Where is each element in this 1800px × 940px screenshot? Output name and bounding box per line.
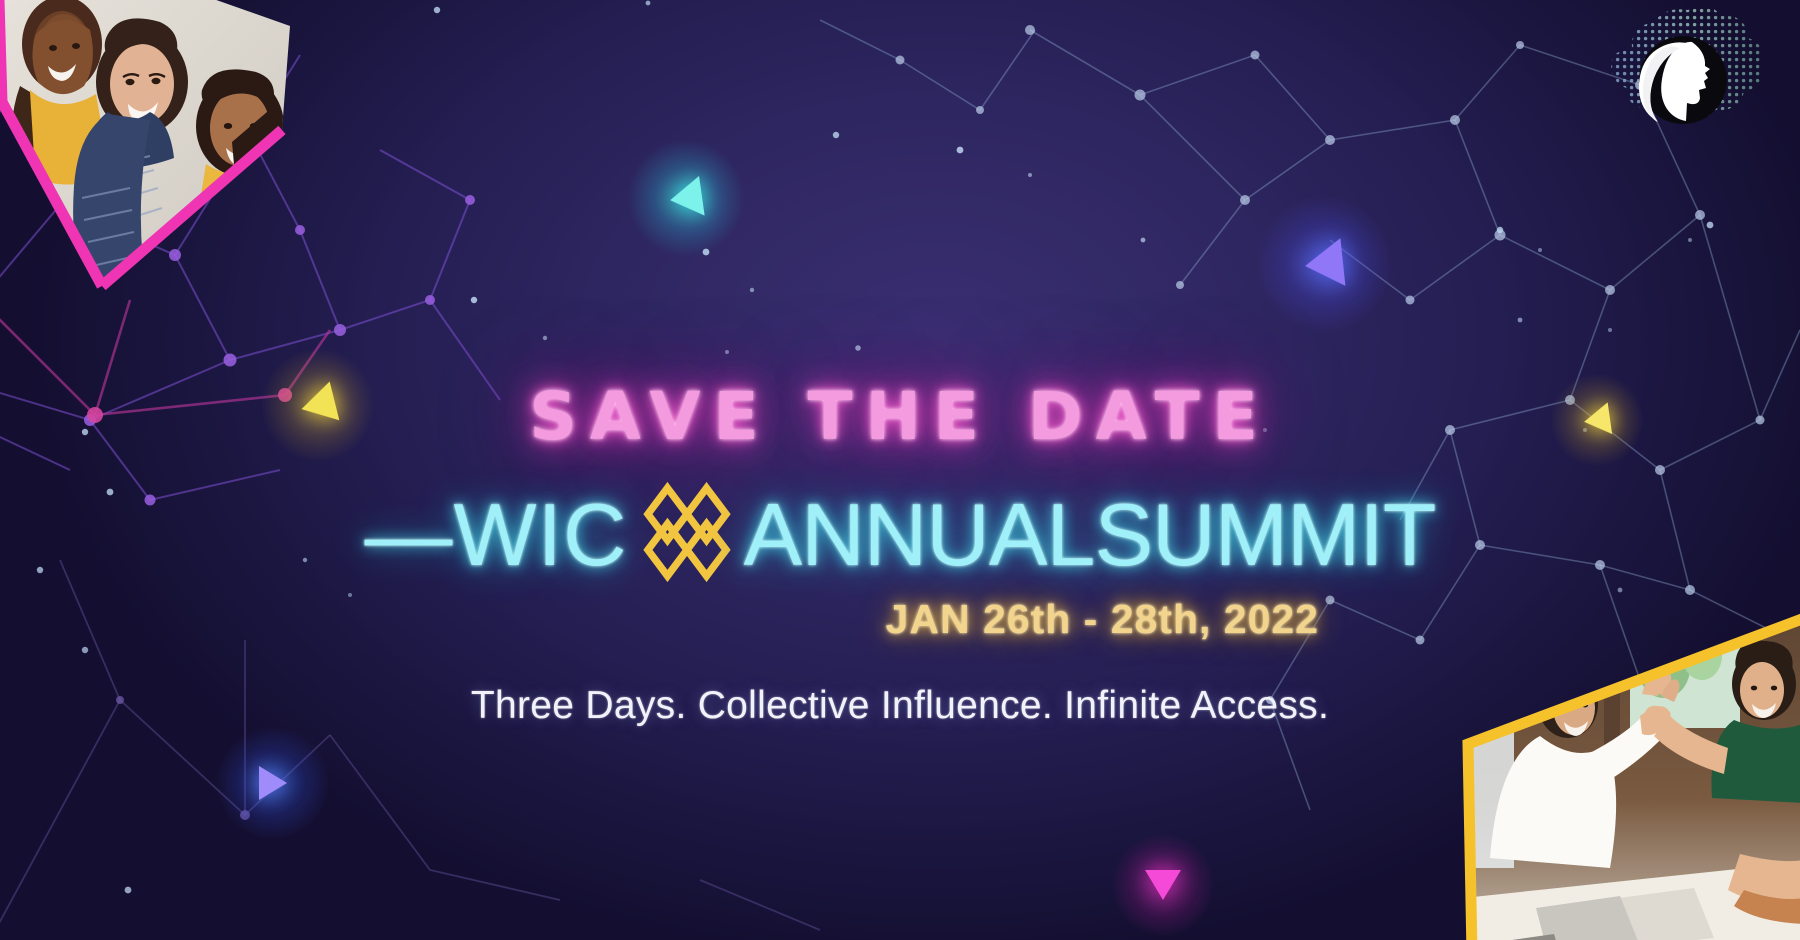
wic-woman-profile-logo[interactable] xyxy=(1580,8,1780,158)
triangle-magenta xyxy=(1108,830,1218,940)
triangle-yellow-right xyxy=(1547,370,1647,470)
three-women-smiling-photo xyxy=(0,0,330,316)
triangle-blue-lower xyxy=(213,723,333,843)
women-high-five-photo xyxy=(1444,608,1800,940)
triangle-teal xyxy=(626,138,746,258)
summit-title-suffix: ANNUALSUMMIT xyxy=(744,491,1436,579)
event-date: JAN 26th - 28th, 2022 xyxy=(886,596,1319,643)
wic-double-diamond-logo xyxy=(638,475,736,594)
triangle-yellow-left xyxy=(258,345,378,465)
summit-title-prefix: —WIC xyxy=(364,491,627,579)
banner-canvas: SAVE THE DATE —WIC ANNUALSUMMIT JAN 26th… xyxy=(0,0,1800,940)
summit-title-row: —WIC ANNUALSUMMIT xyxy=(0,475,1800,594)
triangle-violet xyxy=(1254,194,1394,334)
save-the-date-headline: SAVE THE DATE xyxy=(0,378,1800,455)
